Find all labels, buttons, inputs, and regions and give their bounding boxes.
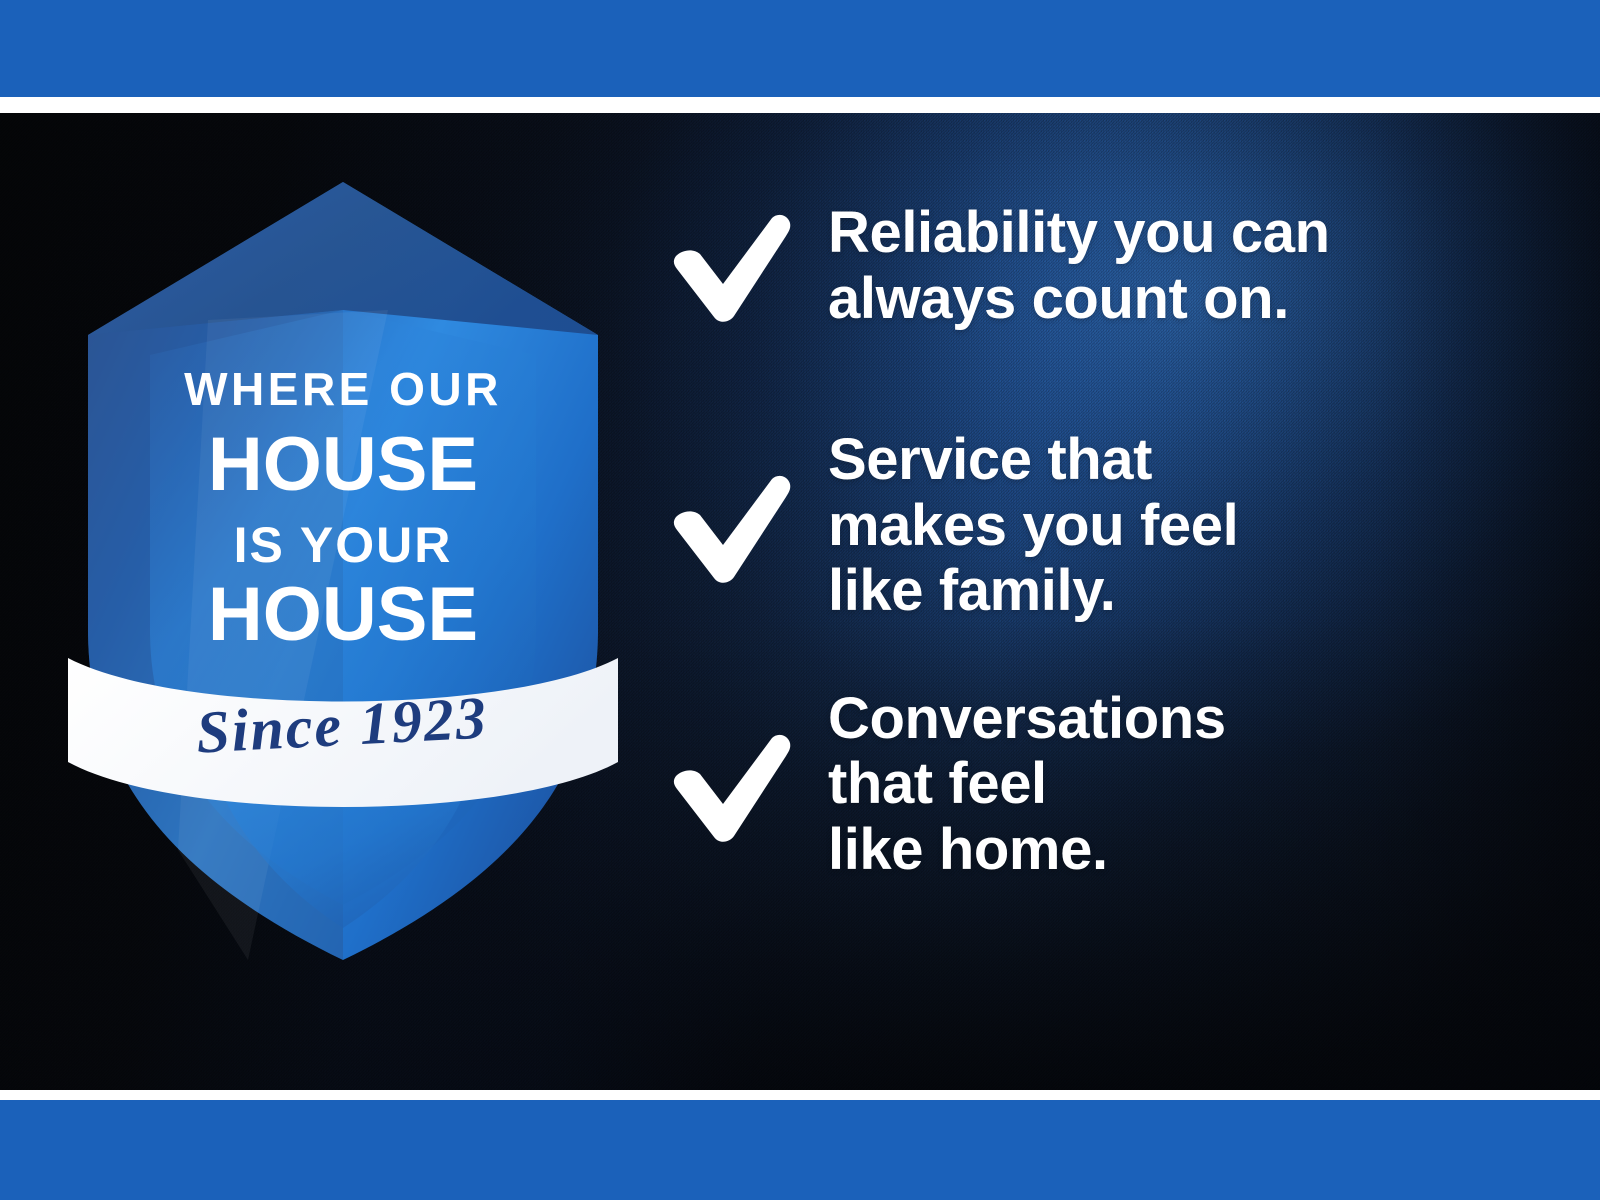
checkmark-icon bbox=[668, 473, 794, 585]
bottom-white-divider bbox=[0, 1090, 1600, 1100]
checkmark-icon bbox=[668, 212, 794, 324]
shield-line-3: IS YOUR bbox=[234, 517, 453, 573]
list-item-label: Service that makes you feel like family. bbox=[828, 427, 1238, 624]
benefits-list: Reliability you can always count on. Ser… bbox=[668, 200, 1548, 946]
list-item: Reliability you can always count on. bbox=[668, 200, 1548, 331]
shield-line-1: WHERE OUR bbox=[184, 363, 502, 415]
shield-line-4: HOUSE bbox=[208, 572, 478, 657]
list-item: Service that makes you feel like family. bbox=[668, 427, 1548, 624]
list-item-label: Reliability you can always count on. bbox=[828, 200, 1330, 331]
shield-line-2: HOUSE bbox=[208, 422, 478, 507]
list-item: Conversations that feel like home. bbox=[668, 686, 1548, 883]
bottom-brand-bar bbox=[0, 1100, 1600, 1200]
promo-graphic: WHERE OUR HOUSE IS YOUR HOUSE Since 1923… bbox=[0, 0, 1600, 1200]
shield-badge: WHERE OUR HOUSE IS YOUR HOUSE Since 1923 bbox=[58, 160, 628, 960]
top-brand-bar bbox=[0, 0, 1600, 97]
checkmark-icon bbox=[668, 732, 794, 844]
top-white-divider bbox=[0, 97, 1600, 113]
list-item-label: Conversations that feel like home. bbox=[828, 686, 1226, 883]
